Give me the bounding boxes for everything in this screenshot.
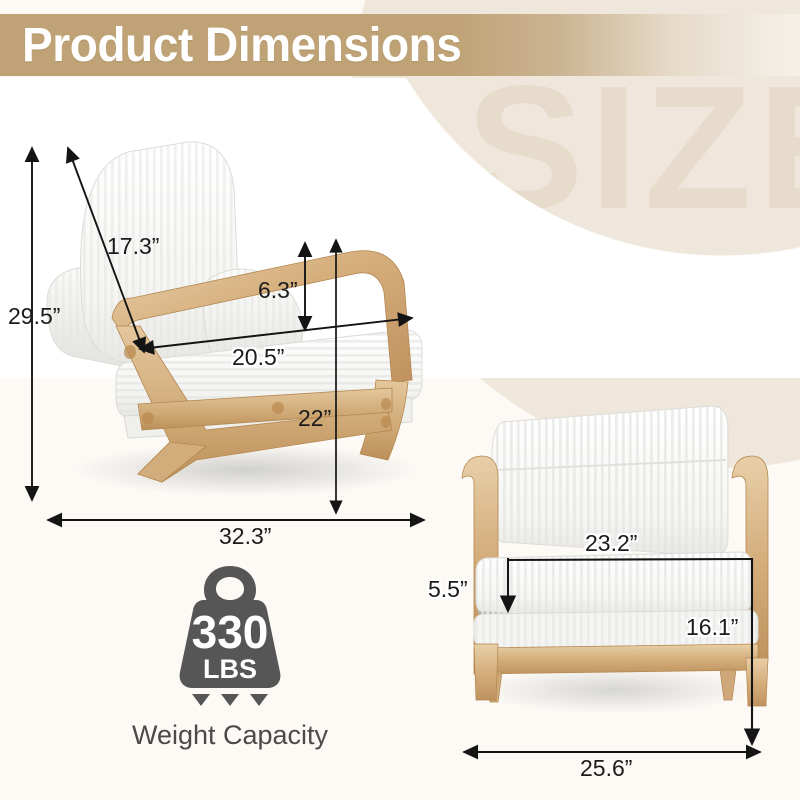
weight-icon: 330 LBS — [168, 562, 292, 708]
weight-arrow-icon — [221, 694, 239, 706]
dimension-label-seat-width: 23.2” — [585, 530, 637, 557]
dimension-label-overall-width: 25.6” — [580, 755, 632, 782]
weight-unit: LBS — [203, 654, 257, 684]
weight-capacity-caption: Weight Capacity — [110, 720, 350, 751]
weight-capacity-block: 330 LBS Weight Capacity — [110, 560, 350, 760]
dimension-label-cushion-thickness: 5.5” — [428, 576, 468, 603]
weight-arrow-icon — [250, 694, 268, 706]
weight-value: 330 — [192, 606, 269, 658]
measure-line-seat-width — [508, 559, 752, 560]
weight-arrow-icon — [192, 694, 210, 706]
dimension-label-seat-height: 16.1” — [686, 614, 738, 641]
infographic-canvas: SIZE Product Dimensions — [0, 0, 800, 800]
